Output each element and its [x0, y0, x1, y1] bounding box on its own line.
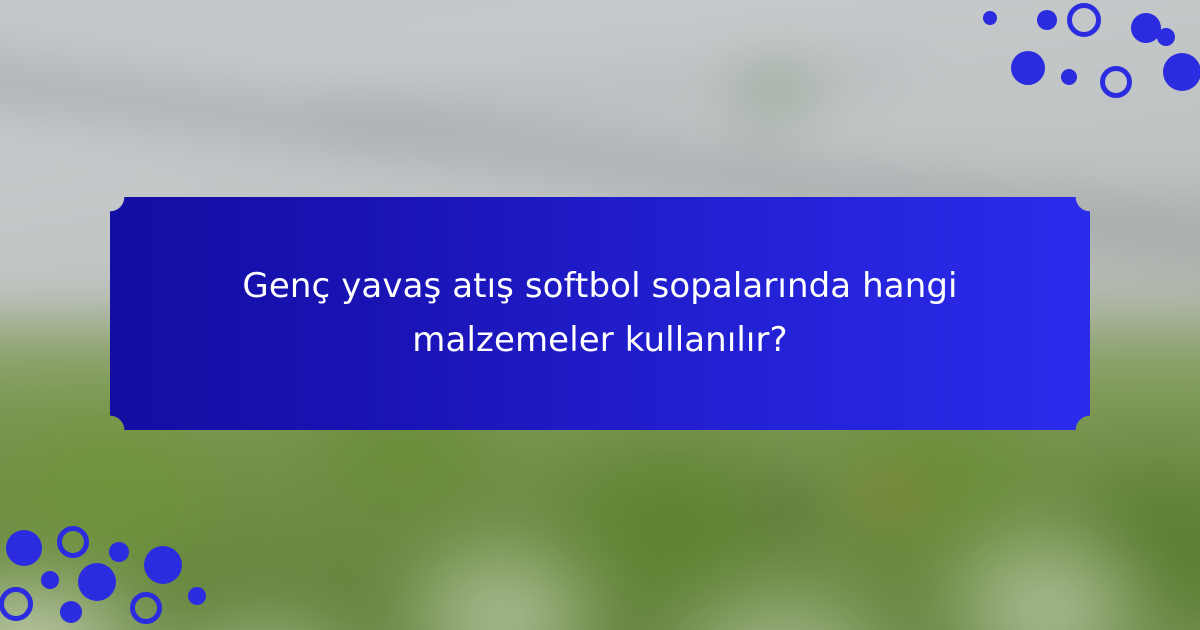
question-text: Genç yavaş atış softbol sopalarında hang… [230, 260, 970, 367]
question-card: Genç yavaş atış softbol sopalarında hang… [110, 197, 1090, 430]
background-dark-blob [740, 474, 835, 538]
background-warm-blob [824, 458, 962, 532]
background-tree-blob [712, 53, 839, 127]
question-card-canvas: Genç yavaş atış softbol sopalarında hang… [0, 0, 1200, 630]
background-pole [754, 84, 761, 211]
